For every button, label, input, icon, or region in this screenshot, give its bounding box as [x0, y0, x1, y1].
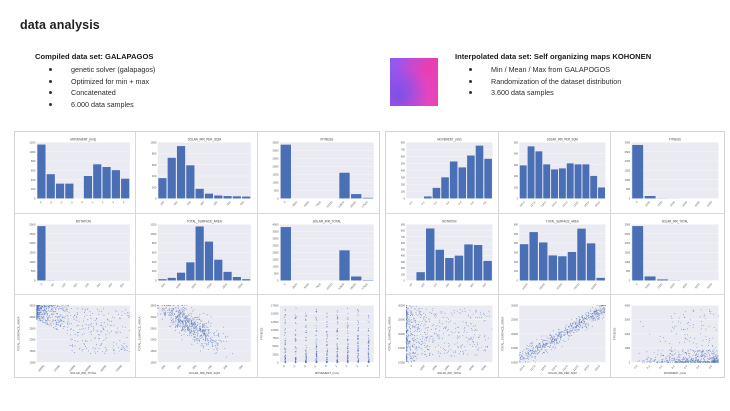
svg-text:1500: 1500: [29, 349, 35, 353]
chart-cell: 025005000750010000125001500017500-4-3-2-…: [258, 295, 379, 377]
svg-text:900: 900: [401, 222, 406, 226]
svg-text:2000: 2000: [272, 250, 278, 254]
svg-text:SOLAR_IRR_PER_SQM: SOLAR_IRR_PER_SQM: [189, 371, 221, 375]
svg-text:3000: 3000: [29, 315, 35, 319]
list-item-label: 6.000 data samples: [71, 100, 134, 109]
svg-text:80: 80: [409, 281, 414, 287]
svg-text:500: 500: [626, 269, 631, 273]
bullet-icon: [49, 80, 52, 83]
svg-text:300: 300: [213, 200, 219, 207]
svg-text:350: 350: [119, 282, 125, 289]
svg-text:125.0: 125.0: [583, 200, 590, 208]
svg-text:15000: 15000: [271, 312, 279, 316]
svg-text:0: 0: [277, 278, 279, 282]
svg-text:3500: 3500: [29, 304, 35, 308]
svg-text:2500: 2500: [222, 282, 229, 290]
svg-text:15000: 15000: [348, 282, 356, 291]
svg-text:10000: 10000: [511, 361, 518, 365]
svg-text:1000: 1000: [625, 346, 631, 350]
dataset-title-kohonen: Interpolated data set: Self organizing m…: [455, 52, 730, 61]
som-gradient-thumbnail: [390, 58, 438, 106]
svg-text:700: 700: [401, 234, 406, 238]
svg-text:2500: 2500: [625, 150, 631, 154]
figure: 0100200300400500600700800MOVEMENT_(m/s)0…: [388, 135, 496, 211]
list-item-label: genetic solver (galapagos): [71, 65, 155, 74]
svg-text:3000: 3000: [669, 200, 676, 208]
svg-text:MOVEMENT_(m/s): MOVEMENT_(m/s): [70, 137, 96, 141]
svg-text:1200: 1200: [29, 140, 35, 144]
svg-text:10000: 10000: [521, 281, 529, 290]
svg-text:50: 50: [50, 282, 55, 287]
svg-text:600: 600: [401, 241, 406, 245]
svg-text:0.4: 0.4: [457, 200, 462, 206]
svg-text:1000: 1000: [29, 150, 35, 154]
chart-cell: 1000150020002500300035001001502002503003…: [136, 295, 257, 377]
svg-text:TOTAL_SURFACE_AREA: TOTAL_SURFACE_AREA: [17, 317, 21, 352]
svg-text:100: 100: [160, 200, 166, 207]
svg-text:2500: 2500: [291, 200, 298, 208]
slide-canvas: data analysis Compiled data set: GALAPAG…: [0, 0, 730, 411]
svg-text:FITNESS: FITNESS: [260, 328, 264, 341]
svg-text:25000: 25000: [511, 318, 518, 322]
svg-text:2500: 2500: [29, 231, 35, 235]
svg-text:5000: 5000: [694, 281, 701, 289]
svg-text:500: 500: [626, 187, 631, 191]
svg-text:1000: 1000: [151, 361, 157, 365]
svg-text:20000: 20000: [115, 364, 123, 373]
svg-text:4000: 4000: [625, 304, 631, 308]
svg-text:150: 150: [176, 364, 182, 371]
bullet-icon: [49, 103, 52, 106]
chart-cell: 0100200300400500600700800MOVEMENT_(m/s)0…: [386, 132, 499, 214]
svg-text:0: 0: [34, 278, 36, 282]
chart-cell: 050010001500200025003000FITNESS010002000…: [611, 132, 724, 214]
dataset-bullets-galapagos: genetic solver (galapagos) Optimized for…: [35, 64, 335, 110]
svg-text:122.0: 122.0: [561, 200, 568, 208]
svg-text:1000: 1000: [29, 361, 35, 365]
svg-text:3000: 3000: [669, 281, 676, 289]
svg-text:2000: 2000: [206, 282, 213, 290]
svg-text:0: 0: [404, 196, 406, 200]
svg-text:3000: 3000: [272, 148, 278, 152]
svg-text:17500: 17500: [271, 304, 279, 308]
svg-text:600: 600: [152, 250, 157, 254]
chart-cell: 050010001500200025003000ROTATION05010015…: [15, 214, 136, 296]
svg-text:0.4: 0.4: [683, 364, 688, 370]
svg-text:17500: 17500: [360, 282, 368, 291]
svg-text:200: 200: [31, 187, 36, 191]
svg-text:400: 400: [401, 168, 406, 172]
svg-text:350: 350: [226, 200, 232, 207]
svg-text:0.0: 0.0: [634, 364, 639, 370]
bullet-icon: [469, 80, 472, 83]
svg-text:1500: 1500: [191, 282, 198, 290]
svg-text:2: 2: [344, 364, 348, 368]
svg-text:119.0: 119.0: [540, 364, 547, 372]
svg-text:1000: 1000: [29, 259, 35, 263]
svg-text:600: 600: [401, 154, 406, 158]
svg-text:TOTAL_SURFACE_AREA: TOTAL_SURFACE_AREA: [187, 219, 223, 223]
chart-grid-galapagos: 020040060080010001200MOVEMENT_(m/s)-4-3-…: [14, 131, 380, 378]
svg-text:MOVEMENT_(m/s): MOVEMENT_(m/s): [664, 371, 686, 375]
svg-text:20000: 20000: [398, 332, 405, 336]
svg-text:3000: 3000: [272, 236, 278, 240]
svg-text:-4: -4: [281, 364, 286, 369]
svg-text:200: 200: [186, 200, 192, 207]
svg-text:800: 800: [401, 228, 406, 232]
svg-text:300: 300: [514, 250, 519, 254]
svg-text:3: 3: [355, 364, 359, 368]
svg-text:12500: 12500: [271, 320, 279, 324]
svg-text:180: 180: [469, 281, 475, 288]
list-item: 3.600 data samples: [455, 87, 730, 99]
svg-text:ROTATION: ROTATION: [76, 219, 91, 223]
list-item: Randomization of the dataset distributio…: [455, 76, 730, 88]
svg-text:-3: -3: [49, 200, 54, 205]
svg-text:117.5: 117.5: [529, 200, 536, 208]
svg-text:0: 0: [323, 364, 327, 368]
svg-text:200: 200: [84, 282, 90, 289]
list-item-label: Min / Mean / Max from GALAPOGOS: [491, 65, 610, 74]
svg-text:SOLAR_IRR_PER_SQM: SOLAR_IRR_PER_SQM: [548, 371, 577, 375]
svg-text:10000: 10000: [325, 282, 333, 291]
svg-text:1000: 1000: [419, 364, 426, 372]
chart-grid-kohonen: 0100200300400500600700800MOVEMENT_(m/s)0…: [385, 131, 725, 378]
figure: 010002000300040000.00.10.20.30.40.50.6MO…: [613, 298, 722, 375]
svg-text:-4: -4: [38, 200, 43, 205]
list-item: Min / Mean / Max from GALAPOGOS: [455, 64, 730, 76]
bullet-icon: [469, 91, 472, 94]
svg-text:0: 0: [635, 281, 639, 285]
chart-cell: 0100200300400500600700800900ROTATION8010…: [386, 214, 499, 296]
svg-text:5000: 5000: [303, 282, 310, 290]
svg-text:126.5: 126.5: [593, 364, 600, 372]
svg-text:30000: 30000: [398, 304, 405, 308]
svg-text:SOLAR_IRR_TOTAL: SOLAR_IRR_TOTAL: [312, 219, 341, 223]
svg-text:100: 100: [401, 189, 406, 193]
list-item-label: Randomization of the dataset distributio…: [491, 77, 621, 86]
svg-text:-2: -2: [302, 364, 307, 369]
svg-text:0.5: 0.5: [696, 364, 701, 370]
svg-text:3000: 3000: [151, 315, 157, 319]
svg-text:2500: 2500: [272, 156, 278, 160]
list-item: 6.000 data samples: [35, 99, 335, 111]
svg-text:1: 1: [334, 364, 338, 368]
svg-text:4: 4: [365, 364, 369, 368]
svg-text:-2: -2: [59, 200, 64, 205]
svg-text:600: 600: [152, 163, 157, 167]
svg-text:SOLAR_IRR_PER_SQM: SOLAR_IRR_PER_SQM: [188, 137, 222, 141]
svg-text:2500: 2500: [151, 327, 157, 331]
svg-text:600: 600: [31, 168, 36, 172]
svg-text:300: 300: [223, 364, 229, 371]
svg-text:6000: 6000: [480, 364, 487, 372]
svg-text:3500: 3500: [151, 304, 157, 308]
chart-cell: 020040060080010001200TOTAL_SURFACE_AREA5…: [136, 214, 257, 296]
svg-text:0: 0: [277, 361, 279, 365]
svg-text:600: 600: [514, 222, 519, 226]
figure: 0100200300400500600700800900ROTATION8010…: [388, 217, 496, 293]
svg-text:100: 100: [401, 272, 406, 276]
svg-text:800: 800: [152, 241, 157, 245]
dataset-block-galapagos: Compiled data set: GALAPAGOS genetic sol…: [35, 52, 335, 110]
svg-text:10000: 10000: [271, 328, 279, 332]
svg-text:1500: 1500: [29, 250, 35, 254]
svg-text:200: 200: [152, 269, 157, 273]
svg-text:2000: 2000: [29, 241, 35, 245]
figure: 05001000150020002500300035004000SOLAR_IR…: [260, 217, 377, 293]
svg-text:30000: 30000: [590, 281, 598, 290]
svg-text:400: 400: [31, 178, 36, 182]
svg-text:400: 400: [401, 253, 406, 257]
chart-cell: 1000015000200002500030000010002000300040…: [386, 295, 499, 377]
svg-text:-1: -1: [69, 200, 74, 205]
svg-text:100: 100: [61, 282, 67, 289]
svg-text:400: 400: [514, 151, 519, 155]
page-title: data analysis: [20, 18, 100, 32]
svg-text:150: 150: [72, 282, 78, 289]
figure: 020040060080010001200MOVEMENT_(m/s)-4-3-…: [17, 135, 133, 211]
list-item: Concatenated: [35, 87, 335, 99]
svg-text:200: 200: [514, 174, 519, 178]
svg-text:0: 0: [410, 364, 414, 369]
svg-text:SOLAR_IRR_TOTAL: SOLAR_IRR_TOTAL: [662, 219, 689, 223]
svg-text:TOTAL_SURFACE_AREA: TOTAL_SURFACE_AREA: [546, 219, 579, 223]
figure: 025005000750010000125001500017500-4-3-2-…: [260, 298, 377, 375]
svg-text:120.5: 120.5: [550, 200, 557, 208]
svg-text:0.2: 0.2: [433, 200, 438, 206]
svg-text:120: 120: [432, 281, 438, 288]
svg-text:2: 2: [101, 200, 105, 204]
svg-text:1000: 1000: [645, 200, 652, 208]
bullet-icon: [49, 68, 52, 71]
figure: 050010001500200025003000SOLAR_IRR_TOTAL0…: [613, 217, 722, 293]
svg-text:SOLAR_IRR_TOTAL: SOLAR_IRR_TOTAL: [437, 371, 461, 375]
svg-text:250: 250: [96, 282, 102, 289]
svg-text:200: 200: [192, 364, 198, 371]
svg-text:400: 400: [514, 241, 519, 245]
svg-text:100: 100: [420, 281, 426, 288]
svg-text:126.5: 126.5: [593, 200, 600, 208]
svg-text:6000: 6000: [707, 200, 714, 208]
svg-text:20000: 20000: [555, 281, 563, 290]
svg-text:2000: 2000: [29, 338, 35, 342]
svg-text:0: 0: [516, 278, 518, 282]
svg-text:125.0: 125.0: [583, 364, 590, 372]
svg-text:2500: 2500: [272, 353, 278, 357]
chart-cell: 050010001500200025003000SOLAR_IRR_TOTAL0…: [611, 214, 724, 296]
svg-text:10000: 10000: [325, 200, 333, 209]
svg-text:10000: 10000: [398, 361, 405, 365]
svg-text:18000: 18000: [99, 364, 107, 373]
svg-text:200: 200: [514, 259, 519, 263]
chart-cell: 05001000150020002500300035004000SOLAR_IR…: [258, 214, 379, 296]
svg-text:500: 500: [514, 231, 519, 235]
svg-text:200: 200: [481, 281, 487, 288]
svg-text:15000: 15000: [348, 200, 356, 209]
dataset-bullets-kohonen: Min / Mean / Max from GALAPOGOS Randomiz…: [455, 64, 730, 99]
svg-text:2000: 2000: [151, 338, 157, 342]
dataset-block-kohonen: Interpolated data set: Self organizing m…: [455, 52, 730, 99]
svg-text:0.0: 0.0: [408, 200, 413, 206]
svg-text:6000: 6000: [707, 281, 714, 289]
figure: 1000150020002500300035001000012000140001…: [17, 298, 133, 375]
svg-text:5000: 5000: [272, 344, 278, 348]
svg-text:1000: 1000: [272, 264, 278, 268]
svg-text:3000: 3000: [237, 282, 244, 290]
svg-text:5000: 5000: [303, 200, 310, 208]
svg-text:4: 4: [122, 200, 126, 204]
svg-text:400: 400: [152, 259, 157, 263]
svg-text:500: 500: [514, 140, 519, 144]
svg-text:116.0: 116.0: [518, 200, 525, 208]
bullet-icon: [49, 91, 52, 94]
svg-text:2500: 2500: [29, 327, 35, 331]
svg-text:0.6: 0.6: [482, 200, 487, 206]
svg-text:250: 250: [199, 200, 205, 207]
figure: 1000015000200002500030000010002000300040…: [388, 298, 496, 375]
figure: 0100200300400500600TOTAL_SURFACE_AREA100…: [501, 217, 609, 293]
svg-text:7500: 7500: [272, 336, 278, 340]
list-item-label: Concatenated: [71, 88, 116, 97]
svg-text:0: 0: [516, 196, 518, 200]
figure: 020040060080010001200TOTAL_SURFACE_AREA5…: [138, 217, 254, 293]
chart-cell: 020040060080010001200MOVEMENT_(m/s)-4-3-…: [15, 132, 136, 214]
svg-text:2500: 2500: [272, 243, 278, 247]
svg-text:TOTAL_SURFACE_AREA: TOTAL_SURFACE_AREA: [501, 317, 504, 352]
svg-text:12500: 12500: [337, 282, 345, 291]
svg-text:-3: -3: [291, 364, 296, 369]
svg-text:FITNESS: FITNESS: [669, 137, 681, 141]
svg-text:500: 500: [401, 161, 406, 165]
svg-text:3: 3: [111, 200, 115, 204]
svg-text:1500: 1500: [625, 250, 631, 254]
svg-text:0: 0: [39, 282, 43, 286]
figure: 050010001500200025003000ROTATION05010015…: [17, 217, 133, 293]
svg-text:0.1: 0.1: [646, 364, 651, 370]
svg-text:0.2: 0.2: [658, 364, 663, 370]
chart-cell: 1000150020002500300035001000012000140001…: [15, 295, 136, 377]
svg-text:1000: 1000: [625, 259, 631, 263]
svg-text:25000: 25000: [572, 281, 580, 290]
svg-text:15000: 15000: [538, 281, 546, 290]
svg-text:5000: 5000: [468, 364, 475, 372]
svg-text:1000: 1000: [625, 178, 631, 182]
svg-text:500: 500: [31, 269, 36, 273]
chart-cell: 0100200300400500600TOTAL_SURFACE_AREA100…: [499, 214, 612, 296]
svg-text:100: 100: [514, 185, 519, 189]
svg-text:SOLAR_IRR_PER_SQM: SOLAR_IRR_PER_SQM: [547, 137, 579, 141]
svg-text:0: 0: [629, 278, 631, 282]
svg-text:25000: 25000: [398, 318, 405, 322]
svg-text:TOTAL_SURFACE_AREA: TOTAL_SURFACE_AREA: [388, 317, 391, 352]
svg-text:300: 300: [514, 163, 519, 167]
svg-text:MOVEMENT_(m/s): MOVEMENT_(m/s): [314, 371, 338, 375]
svg-text:0: 0: [282, 282, 286, 286]
svg-text:TOTAL_SURFACE_AREA: TOTAL_SURFACE_AREA: [138, 317, 142, 352]
svg-text:400: 400: [152, 174, 157, 178]
svg-text:116.0: 116.0: [518, 364, 525, 372]
svg-text:0: 0: [155, 196, 157, 200]
list-item: Optimized for min + max: [35, 76, 335, 88]
svg-text:12000: 12000: [53, 364, 61, 373]
chart-cell: 010002000300040000.00.10.20.30.40.50.6MO…: [611, 295, 724, 377]
svg-text:1000: 1000: [175, 282, 182, 290]
svg-text:800: 800: [401, 140, 406, 144]
svg-text:0.6: 0.6: [708, 364, 713, 370]
svg-text:1500: 1500: [272, 172, 278, 176]
svg-text:300: 300: [107, 282, 113, 289]
svg-text:2500: 2500: [291, 282, 298, 290]
svg-text:100: 100: [514, 269, 519, 273]
svg-text:0: 0: [277, 196, 279, 200]
svg-text:123.5: 123.5: [572, 200, 579, 208]
figure: 1000015000200002500030000116.0117.5119.0…: [501, 298, 609, 375]
svg-text:3000: 3000: [29, 222, 35, 226]
svg-text:117.5: 117.5: [529, 364, 536, 372]
svg-text:MOVEMENT_(m/s): MOVEMENT_(m/s): [437, 137, 461, 141]
svg-text:12500: 12500: [337, 200, 345, 209]
svg-text:4000: 4000: [682, 281, 689, 289]
svg-text:2000: 2000: [625, 332, 631, 336]
svg-text:1000: 1000: [151, 231, 157, 235]
svg-text:119.0: 119.0: [540, 200, 547, 208]
svg-text:30000: 30000: [511, 304, 518, 308]
svg-text:0.5: 0.5: [470, 200, 475, 206]
svg-text:2500: 2500: [625, 231, 631, 235]
svg-text:0.3: 0.3: [445, 200, 450, 206]
svg-text:3500: 3500: [272, 229, 278, 233]
list-item-label: 3.600 data samples: [491, 88, 554, 97]
svg-text:20000: 20000: [511, 332, 518, 336]
svg-text:250: 250: [207, 364, 213, 371]
svg-text:1: 1: [91, 200, 95, 204]
svg-text:15000: 15000: [511, 346, 518, 350]
svg-text:0.3: 0.3: [671, 364, 676, 370]
svg-text:0: 0: [282, 200, 286, 204]
svg-text:3000: 3000: [625, 222, 631, 226]
svg-text:1500: 1500: [272, 257, 278, 261]
svg-text:200: 200: [152, 185, 157, 189]
figure: 1000150020002500300035001001502002503003…: [138, 298, 254, 375]
svg-text:1500: 1500: [625, 168, 631, 172]
svg-text:0: 0: [629, 196, 631, 200]
svg-text:SOLAR_IRR_TOTAL: SOLAR_IRR_TOTAL: [70, 371, 96, 375]
svg-text:1000: 1000: [645, 281, 652, 289]
svg-text:0.1: 0.1: [420, 200, 425, 206]
svg-text:7500: 7500: [314, 200, 321, 208]
chart-cell: 1000015000200002500030000116.0117.5119.0…: [499, 295, 612, 377]
list-item: genetic solver (galapagos): [35, 64, 335, 76]
svg-text:0: 0: [80, 200, 84, 204]
svg-text:200: 200: [401, 266, 406, 270]
figure: 050010001500200025003000FITNESS010002000…: [613, 135, 722, 211]
svg-text:500: 500: [274, 188, 279, 192]
svg-text:500: 500: [274, 271, 279, 275]
svg-text:4000: 4000: [272, 222, 278, 226]
svg-text:1200: 1200: [151, 222, 157, 226]
svg-text:3500: 3500: [272, 140, 278, 144]
svg-text:2000: 2000: [657, 200, 664, 208]
svg-text:800: 800: [152, 152, 157, 156]
figure: 02004006008001000SOLAR_IRR_PER_SQM100150…: [138, 135, 254, 211]
svg-text:2000: 2000: [272, 164, 278, 168]
svg-text:160: 160: [457, 281, 463, 288]
svg-text:1000: 1000: [151, 140, 157, 144]
svg-text:7500: 7500: [314, 282, 321, 290]
svg-text:0: 0: [635, 200, 639, 204]
svg-text:350: 350: [238, 364, 244, 371]
